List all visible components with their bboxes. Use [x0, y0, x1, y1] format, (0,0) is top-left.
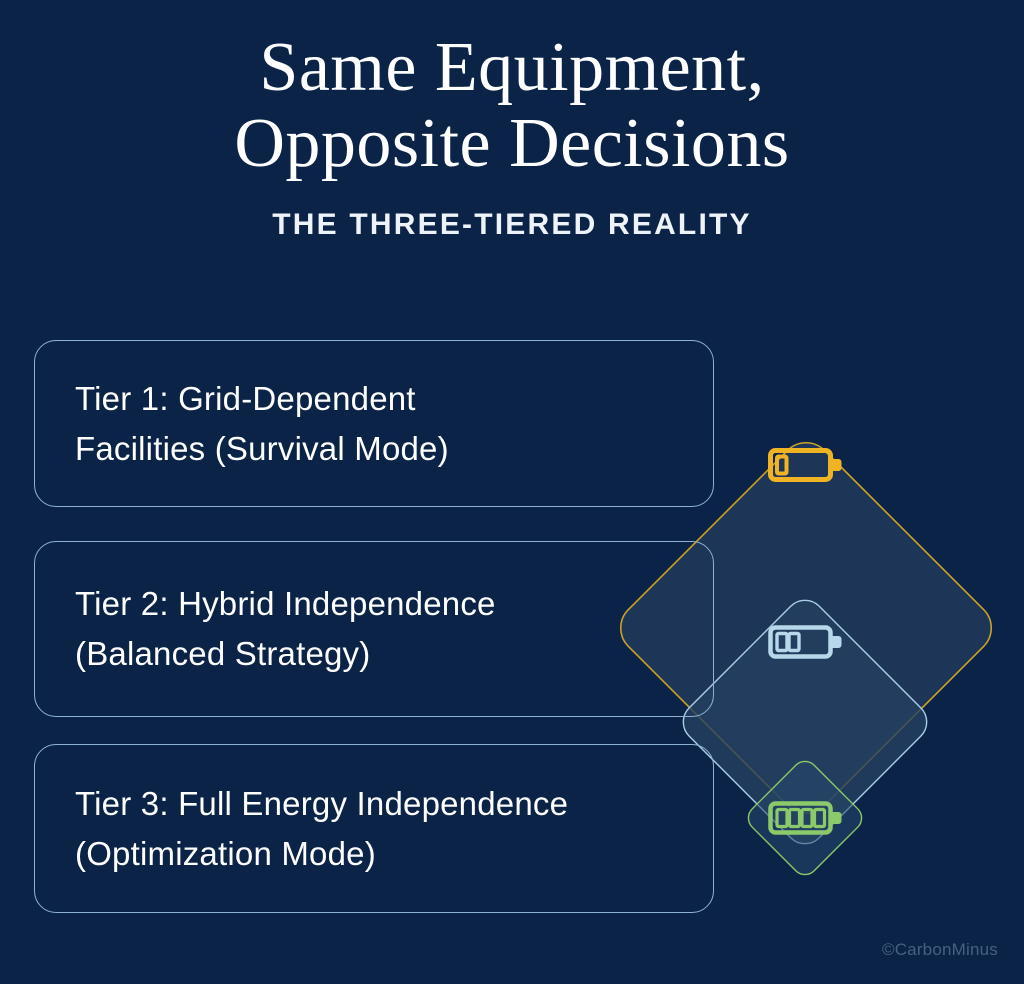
- page-title: Same Equipment, Opposite Decisions: [0, 0, 1024, 182]
- tier-card-3-label-line-1: Tier 3: Full Energy Independence: [75, 785, 568, 822]
- tier-card-2-label: Tier 2: Hybrid Independence (Balanced St…: [75, 579, 496, 679]
- tier-card-3-label-line-2: (Optimization Mode): [75, 835, 376, 872]
- tier-card-2-label-line-1: Tier 2: Hybrid Independence: [75, 585, 496, 622]
- tier-card-3-label: Tier 3: Full Energy Independence (Optimi…: [75, 779, 568, 879]
- battery-low-icon: [768, 443, 844, 487]
- tier-card-2-label-line-2: (Balanced Strategy): [75, 635, 370, 672]
- page-title-line-1: Same Equipment,: [0, 30, 1024, 106]
- battery-full-icon: [768, 796, 844, 840]
- tier-card-2[interactable]: Tier 2: Hybrid Independence (Balanced St…: [34, 541, 714, 717]
- tier-card-1-label: Tier 1: Grid-Dependent Facilities (Survi…: [75, 374, 449, 474]
- battery-half-icon: [768, 620, 844, 664]
- page-title-line-2: Opposite Decisions: [0, 106, 1024, 182]
- tier-card-1-label-line-2: Facilities (Survival Mode): [75, 430, 449, 467]
- tier-card-3[interactable]: Tier 3: Full Energy Independence (Optimi…: [34, 744, 714, 913]
- watermark: ©CarbonMinus: [882, 940, 998, 960]
- tier-card-1-label-line-1: Tier 1: Grid-Dependent: [75, 380, 416, 417]
- header: Same Equipment, Opposite Decisions THE T…: [0, 0, 1024, 242]
- page-subtitle: THE THREE-TIERED REALITY: [0, 182, 1024, 242]
- infographic-canvas: Same Equipment, Opposite Decisions THE T…: [0, 0, 1024, 984]
- tier-card-1[interactable]: Tier 1: Grid-Dependent Facilities (Survi…: [34, 340, 714, 507]
